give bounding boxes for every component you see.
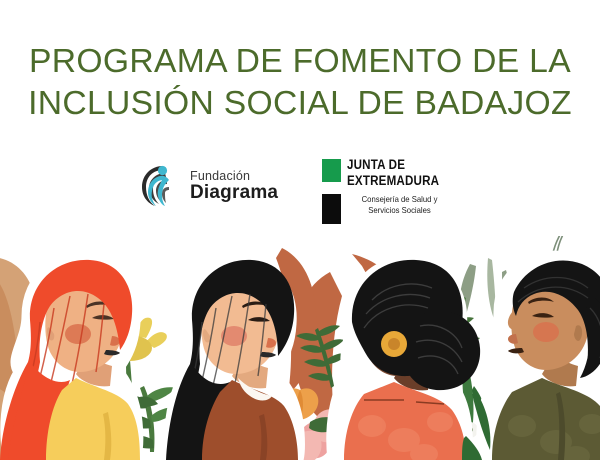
junta-title-line-1: JUNTA DE — [347, 157, 405, 172]
junta-subtitle: Consejería de Salud y Servicios Sociales — [348, 194, 451, 215]
title-line-1: PROGRAMA DE FOMENTO DE LA — [0, 44, 600, 77]
four-women-with-flowers-illustration — [0, 236, 600, 460]
junta-black-square-icon — [322, 194, 341, 224]
fundacion-diagrama-swirl-figure-icon — [138, 162, 184, 208]
diagrama-line-diagrama: Diagrama — [190, 183, 278, 202]
junta-subtitle-line-2: Servicios Sociales — [368, 205, 431, 215]
logo-row: Fundación Diagrama JUNTA DE EXTREMADURA … — [0, 152, 600, 234]
figure-woman-bun-coral-top — [331, 260, 480, 460]
junta-wordmark: JUNTA DE EXTREMADURA — [347, 157, 439, 188]
junta-title-line-2: EXTREMADURA — [347, 173, 439, 188]
poster-root: PROGRAMA DE FOMENTO DE LA INCLUSIÓN SOCI… — [0, 0, 600, 460]
logo-junta-extremadura: JUNTA DE EXTREMADURA Consejería de Salud… — [322, 157, 482, 229]
page-title: PROGRAMA DE FOMENTO DE LA INCLUSIÓN SOCI… — [0, 44, 600, 119]
title-line-2: INCLUSIÓN SOCIAL DE BADAJOZ — [0, 86, 600, 119]
logo-fundacion-diagrama: Fundación Diagrama — [138, 162, 278, 208]
diagrama-line-fundacion: Fundación — [190, 170, 278, 183]
fundacion-diagrama-wordmark: Fundación Diagrama — [190, 168, 278, 202]
junta-green-square-icon — [322, 159, 341, 182]
junta-subtitle-line-1: Consejería de Salud y — [362, 194, 438, 204]
figure-woman-short-hair-olive-top — [481, 255, 600, 460]
